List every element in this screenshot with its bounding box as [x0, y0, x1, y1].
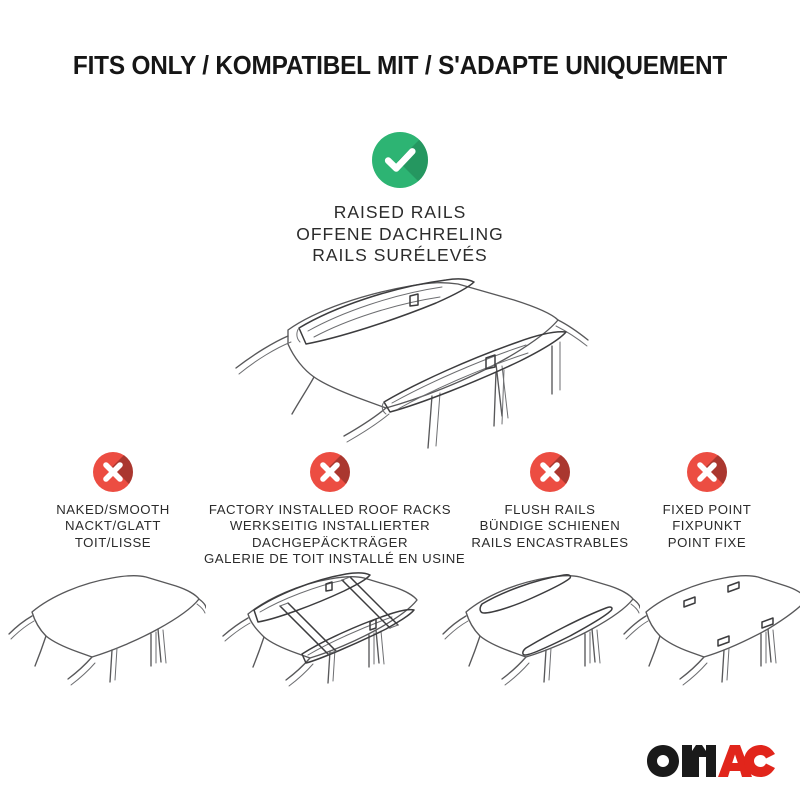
option-caption: NAKED/SMOOTH NACKT/GLATT TOIT/LISSE: [18, 502, 208, 551]
option-factory-installed-roof-racks: FACTORY INSTALLED ROOF RACKS WERKSEITIG …: [204, 452, 456, 568]
x-glyph: [93, 452, 133, 492]
approved-caption: RAISED RAILS OFFENE DACHRELING RAILS SUR…: [0, 202, 800, 267]
option-line-fr: TOIT/LISSE: [18, 535, 208, 551]
option-fixed-point: FIXED POINT FIXPUNKT POINT FIXE: [636, 452, 778, 551]
car-roof-fixed-point-illustration: [622, 556, 800, 688]
option-caption: FLUSH RAILS BÜNDIGE SCHIENEN RAILS ENCAS…: [452, 502, 648, 551]
option-line-de: NACKT/GLATT: [18, 518, 208, 534]
logo-letter-o: [647, 745, 679, 777]
approved-line-en: RAISED RAILS: [0, 202, 800, 224]
x-circle-icon: [93, 452, 133, 492]
option-flush-rails: FLUSH RAILS BÜNDIGE SCHIENEN RAILS ENCAS…: [452, 452, 648, 551]
approved-line-fr: RAILS SURÉLEVÉS: [0, 245, 800, 267]
option-line-de-1: WERKSEITIG INSTALLIERTER: [204, 518, 456, 534]
x-glyph: [530, 452, 570, 492]
car-roof-with-raised-rails-illustration: [196, 276, 620, 458]
logo-letter-c: [744, 745, 775, 777]
option-line-de: BÜNDIGE SCHIENEN: [452, 518, 648, 534]
option-naked-smooth: NAKED/SMOOTH NACKT/GLATT TOIT/LISSE: [18, 452, 208, 551]
car-roof-naked-smooth-illustration: [6, 556, 206, 688]
approved-line-de: OFFENE DACHRELING: [0, 224, 800, 246]
x-circle-icon: [310, 452, 350, 492]
check-circle-icon: [372, 132, 428, 188]
option-line-de: FIXPUNKT: [636, 518, 778, 534]
car-roof-flush-rails-illustration: [440, 556, 640, 688]
page-title: FITS ONLY / KOMPATIBEL MIT / S'ADAPTE UN…: [18, 52, 782, 81]
option-line-fr: POINT FIXE: [636, 535, 778, 551]
check-glyph: [372, 132, 428, 188]
option-line-fr: RAILS ENCASTRABLES: [452, 535, 648, 551]
car-roof-factory-installed-rack-illustration: [218, 556, 428, 688]
option-line-en: FLUSH RAILS: [452, 502, 648, 518]
option-caption: FIXED POINT FIXPUNKT POINT FIXE: [636, 502, 778, 551]
option-line-en: FACTORY INSTALLED ROOF RACKS: [204, 502, 456, 518]
logo-letter-m: [682, 745, 716, 777]
omac-logo: [646, 744, 776, 778]
option-line-en: FIXED POINT: [636, 502, 778, 518]
x-glyph: [687, 452, 727, 492]
x-glyph: [310, 452, 350, 492]
option-line-en: NAKED/SMOOTH: [18, 502, 208, 518]
x-circle-icon: [687, 452, 727, 492]
x-circle-icon: [530, 452, 570, 492]
option-line-de-2: DACHGEPÄCKTRÄGER: [204, 535, 456, 551]
approved-option: RAISED RAILS OFFENE DACHRELING RAILS SUR…: [0, 132, 800, 267]
